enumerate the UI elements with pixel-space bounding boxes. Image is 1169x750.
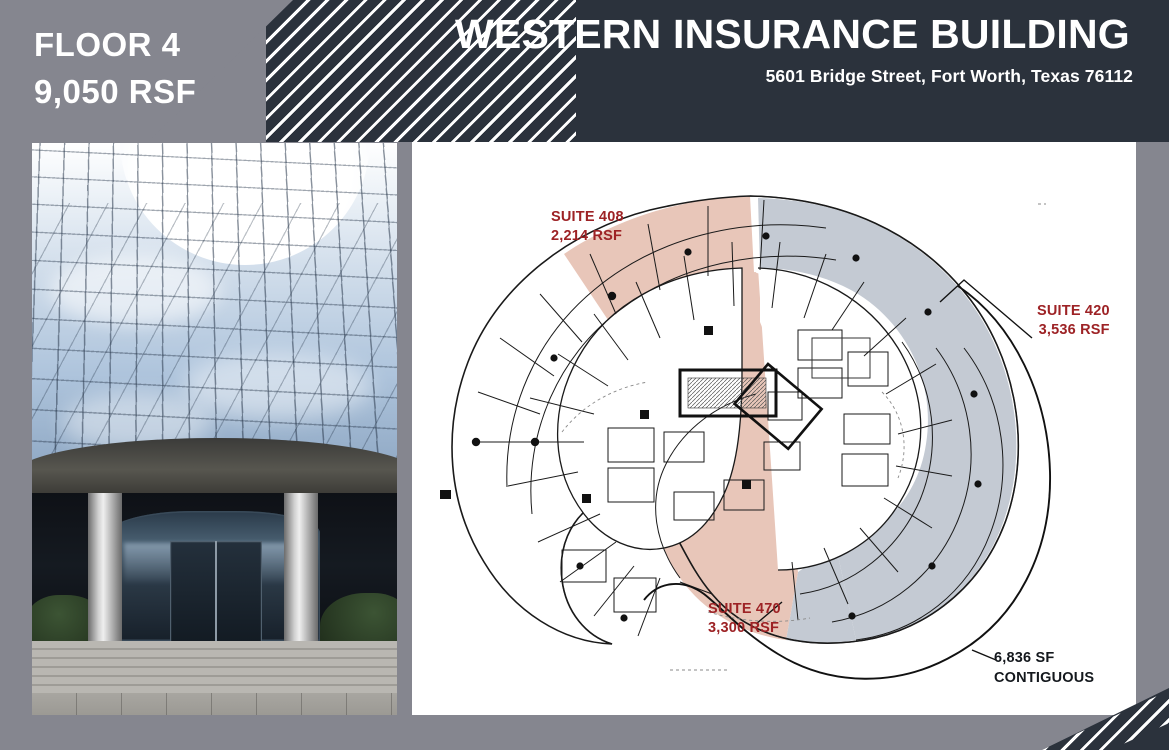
floor-label: FLOOR 4 9,050 RSF	[34, 22, 196, 116]
page-title: WESTERN INSURANCE BUILDING	[455, 11, 1145, 58]
building-photo	[32, 143, 397, 715]
contiguous-label: 6,836 SF CONTIGUOUS	[994, 649, 1094, 688]
floorplan-panel: SUITE 408 2,214 RSF SUITE 420 3,536 RSF …	[412, 142, 1136, 715]
suite-470-label: SUITE 470 3,300 RSF	[708, 600, 781, 638]
building-address: 5601 Bridge Street, Fort Worth, Texas 76…	[766, 66, 1133, 87]
footer-corner-stripes	[984, 688, 1169, 750]
header-band: FLOOR 4 9,050 RSF WESTERN INSURANCE BUIL…	[0, 0, 1169, 142]
entrance-steps	[32, 641, 397, 695]
door-mullion	[215, 541, 217, 646]
suite-420-label: SUITE 420 3,536 RSF	[1037, 302, 1110, 340]
contiguous-leader-line	[972, 650, 996, 660]
suite-408-label: SUITE 408 2,214 RSF	[551, 208, 624, 246]
plaza-paving-joints	[32, 693, 397, 715]
